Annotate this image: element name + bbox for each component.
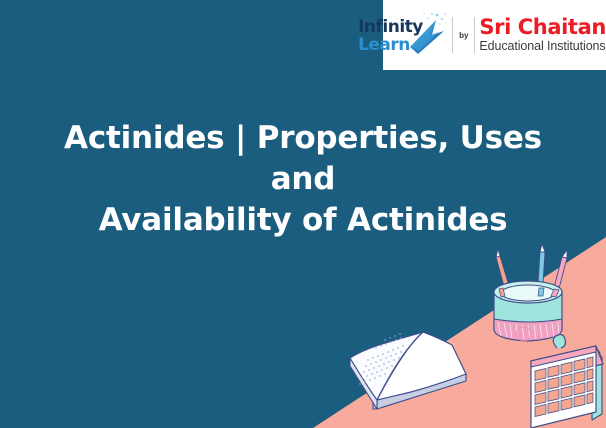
sri-chaitanya-name: Sri Chaitanya (479, 17, 606, 38)
sri-chaitanya-logo: Sri Chaitanya Educational Institutions (479, 17, 606, 53)
brand-logo-lockup[interactable]: Infinity Learn (383, 0, 606, 70)
page-title-line1: Actinides | Properties, Uses and (64, 120, 542, 197)
logo-divider (452, 17, 453, 53)
arrow-swoosh-icon (406, 11, 448, 55)
page-title-line2: Availability of Actinides (99, 202, 508, 238)
page-title: Actinides | Properties, Uses and Availab… (0, 118, 606, 241)
logo-divider-2 (474, 17, 475, 53)
logo-connector-label: by (457, 31, 470, 40)
sri-chaitanya-subtitle: Educational Institutions (479, 40, 606, 53)
banner-canvas: Infinity Learn (0, 0, 606, 428)
infinity-learn-logo: Infinity Learn (356, 7, 448, 63)
